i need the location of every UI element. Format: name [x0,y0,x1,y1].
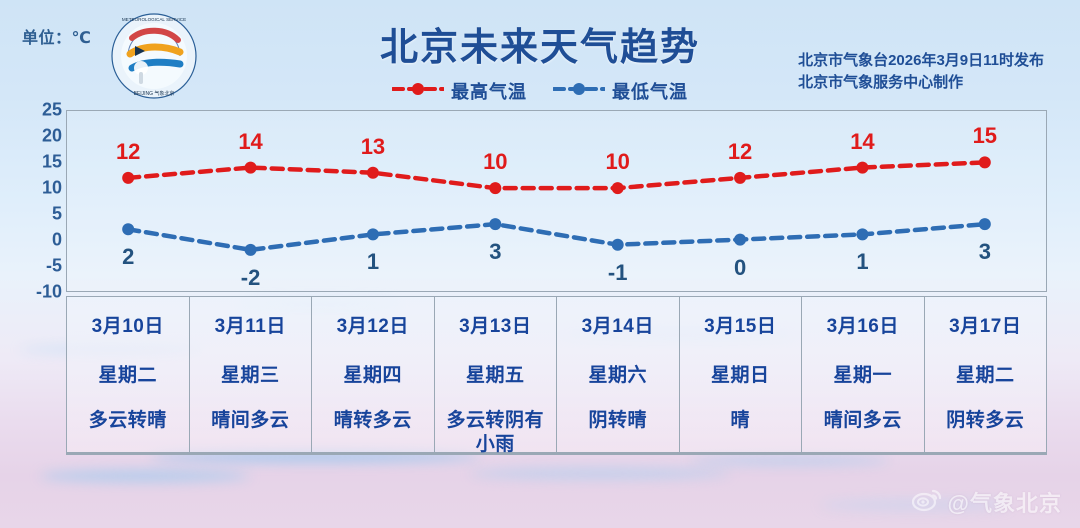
low-temp-label: -2 [241,265,261,291]
high-temp-label: 13 [361,134,385,160]
forecast-date: 3月14日 [582,311,654,338]
low-temp-label: 1 [856,249,868,275]
high-temp-label: 14 [850,129,874,155]
temperature-chart-plot: 12141310101214152-213-1013 [66,110,1047,292]
high-temp-label: 12 [728,139,752,165]
data-point [979,156,991,168]
forecast-day-of-week: 星期三 [221,360,280,387]
forecast-column-5[interactable]: 3月14日星期六阴转晴 [557,297,680,452]
legend-marker-high-icon [392,81,444,102]
watermark: @气象北京 [912,486,1062,518]
y-axis-tick: 10 [10,178,62,199]
series-line-high [128,162,985,188]
low-temp-label: 3 [489,239,501,265]
forecast-column-1[interactable]: 3月10日星期二多云转晴 [67,297,190,452]
data-point [245,244,257,256]
series-line-low [128,224,985,250]
legend-item-low-temp: 最低气温 [553,78,688,104]
forecast-day-of-week: 星期日 [711,360,770,387]
legend-label-high: 最高气温 [451,78,527,104]
forecast-table: 3月10日星期二多云转晴3月11日星期三晴间多云3月12日星期四晴转多云3月13… [66,296,1047,455]
data-point [612,182,624,194]
watermark-text: @气象北京 [948,486,1062,518]
high-temp-label: 12 [116,139,140,165]
y-axis-tick: -5 [10,256,62,277]
forecast-date: 3月13日 [459,311,531,338]
forecast-column-8[interactable]: 3月17日星期二阴转多云 [925,297,1047,452]
data-point [612,239,624,251]
forecast-day-of-week: 星期五 [466,360,525,387]
forecast-day-of-week: 星期二 [98,360,157,387]
forecast-date: 3月15日 [704,311,776,338]
weibo-icon [912,488,942,517]
high-temp-label: 14 [238,129,262,155]
low-temp-label: 3 [979,239,991,265]
high-temp-label: 15 [973,123,997,149]
chart-legend: 最高气温 最低气温 [0,78,1080,104]
y-axis: 2520151050-5-10 [10,100,62,300]
data-point [734,172,746,184]
data-point [122,223,134,235]
forecast-date: 3月11日 [215,311,286,338]
forecast-day-of-week: 星期四 [343,360,402,387]
cloud-wisp [40,470,250,482]
forecast-day-of-week: 星期二 [956,360,1015,387]
cloud-wisp [690,456,890,465]
forecast-day-of-week: 星期一 [833,360,892,387]
low-temp-label: 2 [122,244,134,270]
forecast-date: 3月10日 [92,311,164,338]
forecast-date: 3月17日 [949,311,1021,338]
data-point [367,167,379,179]
forecast-condition: 晴间多云 [211,409,289,433]
temperature-series-svg [67,111,1046,291]
forecast-condition: 多云转晴 [89,409,167,433]
forecast-column-6[interactable]: 3月15日星期日晴 [680,297,803,452]
forecast-date: 3月16日 [827,311,899,338]
low-temp-label: 1 [367,249,379,275]
legend-marker-low-icon [553,81,605,102]
data-point [734,234,746,246]
data-point [245,162,257,174]
high-temp-label: 10 [483,149,507,175]
forecast-column-7[interactable]: 3月16日星期一晴间多云 [802,297,925,452]
forecast-condition: 晴间多云 [824,409,902,433]
forecast-date: 3月12日 [337,311,409,338]
legend-item-high-temp: 最高气温 [392,78,527,104]
forecast-day-of-week: 星期六 [588,360,647,387]
data-point [489,182,501,194]
forecast-column-3[interactable]: 3月12日星期四晴转多云 [312,297,435,452]
data-point [122,172,134,184]
data-point [489,218,501,230]
low-temp-label: 0 [734,255,746,281]
y-axis-tick: 5 [10,204,62,225]
y-axis-tick: 15 [10,152,62,173]
data-point [979,218,991,230]
y-axis-tick: 25 [10,100,62,121]
y-axis-tick: 0 [10,230,62,251]
forecast-condition: 晴 [730,409,750,433]
weather-trend-infographic: 单位：℃ METEOROLOGICAL SERVICE BEIJING 气象北京… [0,0,1080,528]
issue-line-1: 北京市气象台2026年3月9日11时发布 [798,50,1044,72]
y-axis-tick: 20 [10,126,62,147]
forecast-condition: 多云转阴有小雨 [443,409,547,457]
high-temp-label: 10 [605,149,629,175]
forecast-condition: 晴转多云 [334,409,412,433]
data-point [856,228,868,240]
data-point [367,228,379,240]
forecast-column-2[interactable]: 3月11日星期三晴间多云 [190,297,313,452]
data-point [856,162,868,174]
legend-label-low: 最低气温 [612,78,688,104]
forecast-column-4[interactable]: 3月13日星期五多云转阴有小雨 [435,297,558,452]
y-axis-tick: -10 [10,282,62,303]
low-temp-label: -1 [608,260,628,286]
cloud-wisp [470,468,730,479]
forecast-condition: 阴转晴 [588,409,647,433]
forecast-condition: 阴转多云 [946,409,1024,433]
